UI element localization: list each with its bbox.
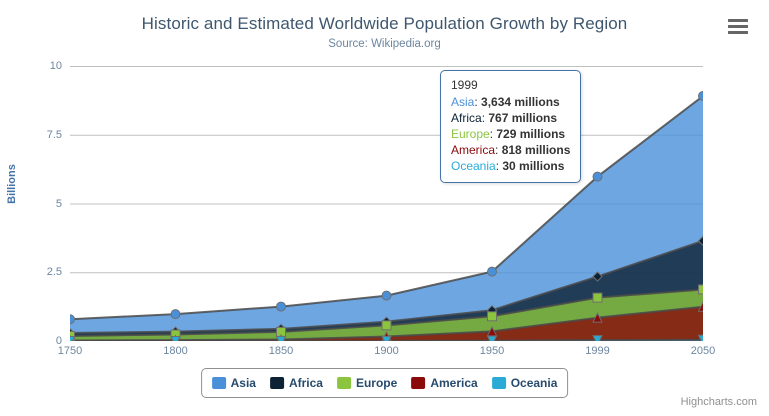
tooltip-row-asia: Asia: 3,634 millions xyxy=(451,94,570,110)
menu-bar xyxy=(728,19,748,22)
tooltip-series-name: Africa xyxy=(451,111,482,125)
x-tick-label: 1950 xyxy=(480,345,504,357)
y-tick-label: 5 xyxy=(16,198,62,210)
tooltip-series-name: Oceania xyxy=(451,159,496,173)
x-tick-label: 2050 xyxy=(691,345,715,357)
tooltip-row-africa: Africa: 767 millions xyxy=(451,110,570,126)
hamburger-menu-icon[interactable] xyxy=(727,18,749,36)
chart-legend: AsiaAfricaEuropeAmericaOceania xyxy=(201,368,569,398)
x-tick-label: 1800 xyxy=(163,345,187,357)
y-tick-label: 2.5 xyxy=(16,266,62,278)
tooltip-series-name: Asia xyxy=(451,95,474,109)
data-point-marker[interactable] xyxy=(699,92,704,101)
data-point-marker[interactable] xyxy=(382,321,391,330)
data-point-marker[interactable] xyxy=(171,310,180,319)
data-point-marker[interactable] xyxy=(70,315,75,324)
tooltip: 1999 Asia: 3,634 millionsAfrica: 767 mil… xyxy=(440,70,581,183)
y-axis-title: Billions xyxy=(6,154,18,214)
x-tick-label: 1850 xyxy=(269,345,293,357)
x-tick-label: 1750 xyxy=(58,345,82,357)
legend-item-oceania[interactable]: Oceania xyxy=(492,373,558,393)
tooltip-series-name: America xyxy=(451,143,495,157)
x-tick-label: 1900 xyxy=(374,345,398,357)
legend-label: Africa xyxy=(289,376,323,390)
menu-bar xyxy=(728,31,748,34)
data-point-marker[interactable] xyxy=(488,312,497,321)
legend-item-africa[interactable]: Africa xyxy=(270,373,323,393)
legend-label: Asia xyxy=(231,376,256,390)
tooltip-row-oceania: Oceania: 30 millions xyxy=(451,158,570,174)
x-tick-label: 1999 xyxy=(585,345,609,357)
tooltip-series-value: 767 millions xyxy=(488,111,557,125)
legend-label: Oceania xyxy=(511,376,558,390)
y-tick-label: 0 xyxy=(16,335,62,347)
legend-item-europe[interactable]: Europe xyxy=(337,373,397,393)
tooltip-row-america: America: 818 millions xyxy=(451,142,570,158)
chart-subtitle: Source: Wikipedia.org xyxy=(0,38,769,50)
tooltip-separator: : xyxy=(474,95,481,109)
tooltip-series-value: 818 millions xyxy=(502,143,571,157)
data-point-marker[interactable] xyxy=(699,285,704,294)
legend-swatch-icon xyxy=(337,377,351,389)
legend-item-asia[interactable]: Asia xyxy=(212,373,256,393)
y-tick-label: 10 xyxy=(16,60,62,72)
data-point-marker[interactable] xyxy=(277,302,286,311)
tooltip-rows: Asia: 3,634 millionsAfrica: 767 millions… xyxy=(451,94,570,174)
legend-label: America xyxy=(430,376,477,390)
plot-area xyxy=(70,66,703,341)
y-tick-label: 7.5 xyxy=(16,129,62,141)
tooltip-series-name: Europe xyxy=(451,127,490,141)
menu-bar xyxy=(728,25,748,28)
tooltip-header: 1999 xyxy=(451,78,570,92)
legend-label: Europe xyxy=(356,376,397,390)
tooltip-series-value: 729 millions xyxy=(496,127,565,141)
data-point-marker[interactable] xyxy=(593,293,602,302)
legend-swatch-icon xyxy=(492,377,506,389)
highcharts-container: Historic and Estimated Worldwide Populat… xyxy=(0,0,769,416)
legend-swatch-icon xyxy=(411,377,425,389)
tooltip-series-value: 3,634 millions xyxy=(481,95,560,109)
tooltip-row-europe: Europe: 729 millions xyxy=(451,126,570,142)
data-point-marker[interactable] xyxy=(593,172,602,181)
data-point-marker[interactable] xyxy=(382,291,391,300)
tooltip-separator: : xyxy=(495,143,502,157)
tooltip-series-value: 30 millions xyxy=(502,159,564,173)
legend-item-america[interactable]: America xyxy=(411,373,477,393)
legend-swatch-icon xyxy=(270,377,284,389)
chart-title: Historic and Estimated Worldwide Populat… xyxy=(0,14,769,34)
credits-label[interactable]: Highcharts.com xyxy=(681,396,757,408)
series-canvas xyxy=(70,66,703,341)
legend-swatch-icon xyxy=(212,377,226,389)
data-point-marker[interactable] xyxy=(488,267,497,276)
x-axis: 1750180018501900195019992050 xyxy=(70,345,703,363)
